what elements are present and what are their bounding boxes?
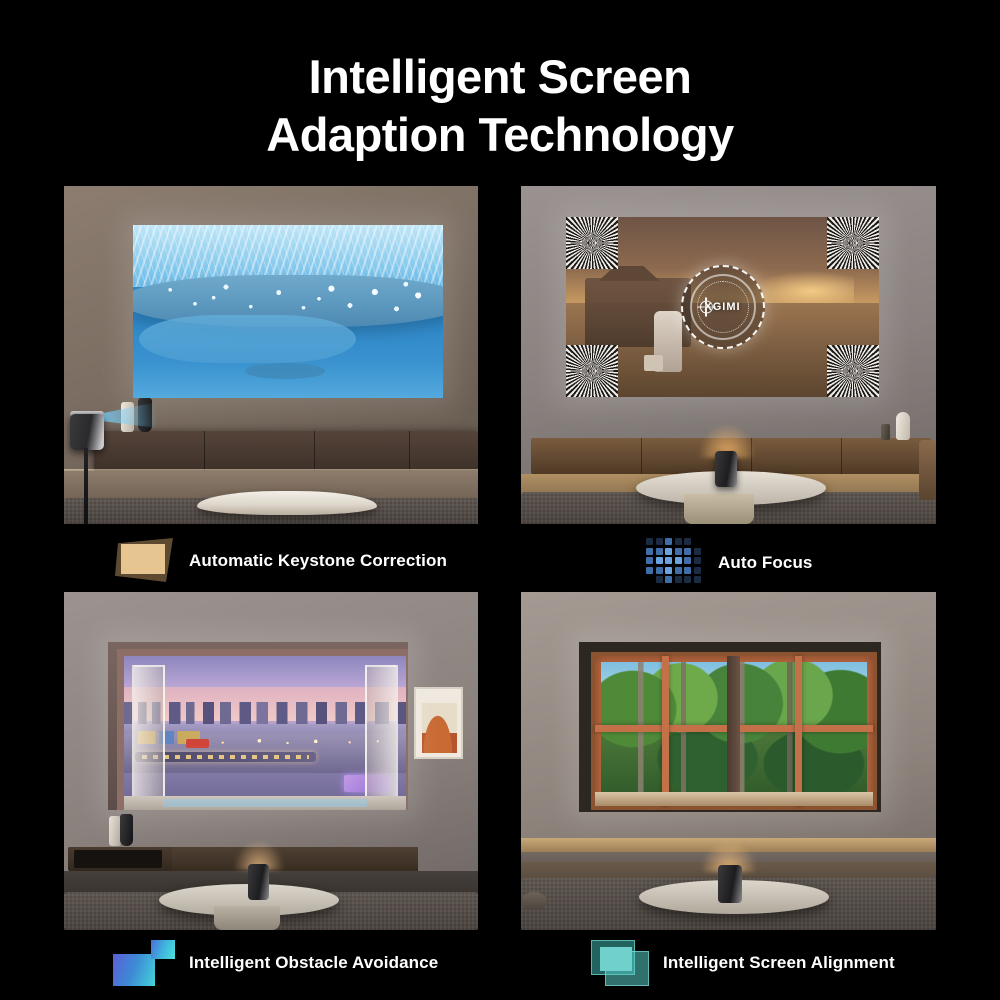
window-center-post [727, 656, 740, 806]
small-fish [245, 363, 326, 379]
console-seam [204, 431, 205, 471]
focus-dot [684, 548, 691, 555]
focus-dot [646, 548, 653, 555]
focus-dot [675, 538, 682, 545]
overlapping-rectangles-icon [591, 940, 649, 986]
console-seam [314, 431, 315, 471]
focus-test-chart-top-right [827, 217, 879, 269]
sea-floor-slope [139, 315, 356, 363]
focus-dot [694, 567, 701, 574]
feature-label: Automatic Keystone Correction [189, 551, 447, 571]
red-truck [186, 739, 209, 748]
focus-dot [656, 557, 663, 564]
keystone-trapezoid-icon [113, 538, 175, 584]
side-stool [521, 892, 547, 910]
projected-screen: XGIMI [566, 217, 879, 397]
feature-caption-intelligent-obstacle-avoidance: Intelligent Obstacle Avoidance [113, 940, 438, 986]
console-seam [641, 438, 642, 474]
feature-image-auto-focus: XGIMI [521, 186, 936, 524]
feature-label: Intelligent Screen Alignment [663, 953, 895, 973]
projected-screen [133, 225, 443, 398]
focus-dot [684, 557, 691, 564]
poster-canvas: Intelligent Screen Adaption Technology [0, 0, 1000, 1000]
feature-image-automatic-keystone-correction [64, 186, 478, 524]
focus-dot [656, 576, 663, 583]
focus-dot [646, 557, 653, 564]
white-ottoman [197, 491, 377, 515]
feature-caption-auto-focus: Auto Focus [646, 538, 813, 588]
window-frame [591, 652, 877, 810]
focus-dot [665, 548, 672, 555]
media-console [94, 431, 478, 471]
focus-dot [675, 567, 682, 574]
window-mullion-vertical [795, 656, 802, 806]
focus-dot [665, 538, 672, 545]
focus-dot [656, 548, 663, 555]
feature-image-intelligent-screen-alignment [521, 592, 936, 930]
focus-dot [656, 567, 663, 574]
focus-dot [656, 538, 663, 545]
media-console-right [172, 847, 418, 871]
city-view [124, 656, 406, 810]
focus-dot [665, 576, 672, 583]
title-line-1: Intelligent Screen [309, 50, 692, 103]
focus-dot [675, 548, 682, 555]
focus-dot [694, 557, 701, 564]
focus-dot [684, 576, 691, 583]
alignment-rect-core [600, 947, 632, 971]
astronaut-figure [654, 311, 682, 372]
focus-dot [684, 567, 691, 574]
feature-label: Intelligent Obstacle Avoidance [189, 953, 438, 973]
dot-matrix-focus-icon [646, 538, 704, 588]
focus-dot [694, 548, 701, 555]
projector-device [248, 864, 269, 900]
focus-dot [646, 567, 653, 574]
feature-caption-automatic-keystone-correction: Automatic Keystone Correction [113, 538, 447, 584]
focus-dot [646, 538, 653, 545]
table-base [214, 906, 280, 930]
focus-test-chart-bottom-left [566, 345, 618, 397]
console-seam [841, 438, 842, 474]
window-sash-right [365, 665, 397, 805]
projector-device [70, 414, 104, 450]
focus-test-chart-top-left [566, 217, 618, 269]
focus-test-chart-bottom-right [827, 345, 879, 397]
window-frame [117, 649, 408, 810]
decor-object [881, 424, 890, 440]
table-base [684, 494, 754, 524]
focus-dot [665, 567, 672, 574]
focus-dot [694, 576, 701, 583]
projected-screen [579, 642, 881, 812]
page-title: Intelligent Screen Adaption Technology [0, 48, 1000, 164]
xgimi-focus-reticle: XGIMI [681, 265, 765, 349]
window-sill [124, 796, 406, 810]
title-line-2: Adaption Technology [0, 106, 1000, 164]
wood-chair [919, 440, 936, 500]
decor-vase [896, 412, 910, 440]
console-open-shelf [74, 850, 162, 868]
focus-dot [675, 557, 682, 564]
obstacle-square-large [113, 954, 155, 986]
two-offset-squares-icon [113, 940, 175, 986]
feature-image-intelligent-obstacle-avoidance [64, 592, 478, 930]
focus-dot [665, 557, 672, 564]
projector-device [718, 865, 742, 903]
projector-floor-stand [84, 448, 88, 524]
decor-vase-dark [120, 814, 133, 846]
upper-sky [124, 656, 406, 687]
framed-art-print [414, 687, 463, 759]
obstacle-square-small [151, 940, 175, 959]
focus-dot [675, 576, 682, 583]
window-sill [595, 792, 873, 805]
window-sash-left [132, 665, 164, 805]
feature-label: Auto Focus [718, 553, 813, 573]
keystone-corrected-shape [121, 544, 165, 574]
focus-dot [684, 538, 691, 545]
xgimi-wordmark: XGIMI [681, 301, 765, 313]
projector-device [715, 451, 737, 487]
projected-screen [108, 642, 408, 810]
console-seam [409, 431, 410, 471]
feature-caption-intelligent-screen-alignment: Intelligent Screen Alignment [591, 940, 895, 986]
window-mullion-vertical [662, 656, 669, 806]
